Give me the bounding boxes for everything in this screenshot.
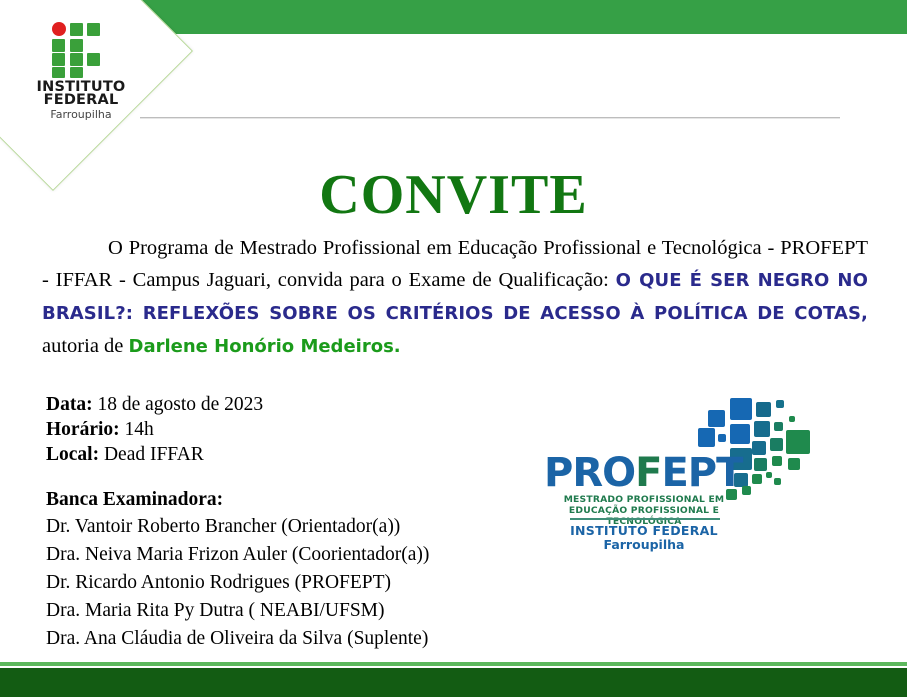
page-title: CONVITE [0, 163, 907, 227]
event-date-label: Data: [46, 394, 93, 415]
logo-red-dot-icon [52, 22, 66, 36]
profept-wordmark: PROFEPT [544, 450, 742, 496]
event-time-value: 14h [120, 419, 154, 440]
event-time-row: Horário: 14h [46, 417, 476, 442]
profept-word-pro: PRO [544, 450, 635, 496]
footer-accent-line [0, 662, 907, 666]
board-heading: Banca Examinadora: [46, 487, 516, 513]
if-monogram-icon [52, 22, 110, 78]
profept-word-f: F [635, 450, 661, 496]
board-member: Dra. Neiva Maria Frizon Auler (Coorienta… [46, 541, 516, 569]
event-date-row: Data: 18 de agosto de 2023 [46, 392, 476, 417]
profept-subtitle-line1: MESTRADO PROFISSIONAL EM [536, 494, 752, 505]
profept-word-ept: EPT [661, 450, 742, 496]
event-place-label: Local: [46, 444, 99, 465]
event-details: Data: 18 de agosto de 2023 Horário: 14h … [46, 392, 476, 467]
board-member: Dr. Vantoir Roberto Brancher (Orientador… [46, 513, 516, 541]
logo-campus-label: Farroupilha [22, 108, 140, 121]
board-member: Dr. Ricardo Antonio Rodrigues (PROFEPT) [46, 569, 516, 597]
profept-institute-label: INSTITUTO FEDERAL [536, 523, 752, 538]
event-place-value: Dead IFFAR [99, 444, 204, 465]
header-divider-rule [140, 117, 840, 119]
board-member: Dra. Maria Rita Py Dutra ( NEABI/UFSM) [46, 597, 516, 625]
instituto-federal-logo: INSTITUTO FEDERAL Farroupilha [22, 22, 140, 118]
author-name-text: Darlene Honório Medeiros. [129, 336, 401, 357]
examining-board: Banca Examinadora: Dr. Vantoir Roberto B… [46, 487, 516, 653]
authorship-connector-text: autoria de [42, 335, 129, 357]
event-date-value: 18 de agosto de 2023 [93, 394, 264, 415]
invitation-paragraph: O Programa de Mestrado Profissional em E… [42, 232, 868, 363]
board-member: Dra. Ana Cláudia de Oliveira da Silva (S… [46, 625, 516, 653]
profept-divider [570, 518, 720, 520]
footer-green-band [0, 668, 907, 697]
event-place-row: Local: Dead IFFAR [46, 442, 476, 467]
profept-logo: PROFEPT MESTRADO PROFISSIONAL EM EDUCAÇÃ… [536, 394, 816, 544]
event-time-label: Horário: [46, 419, 120, 440]
logo-institute-line2: FEDERAL [22, 94, 140, 107]
profept-campus-label: Farroupilha [536, 537, 752, 552]
